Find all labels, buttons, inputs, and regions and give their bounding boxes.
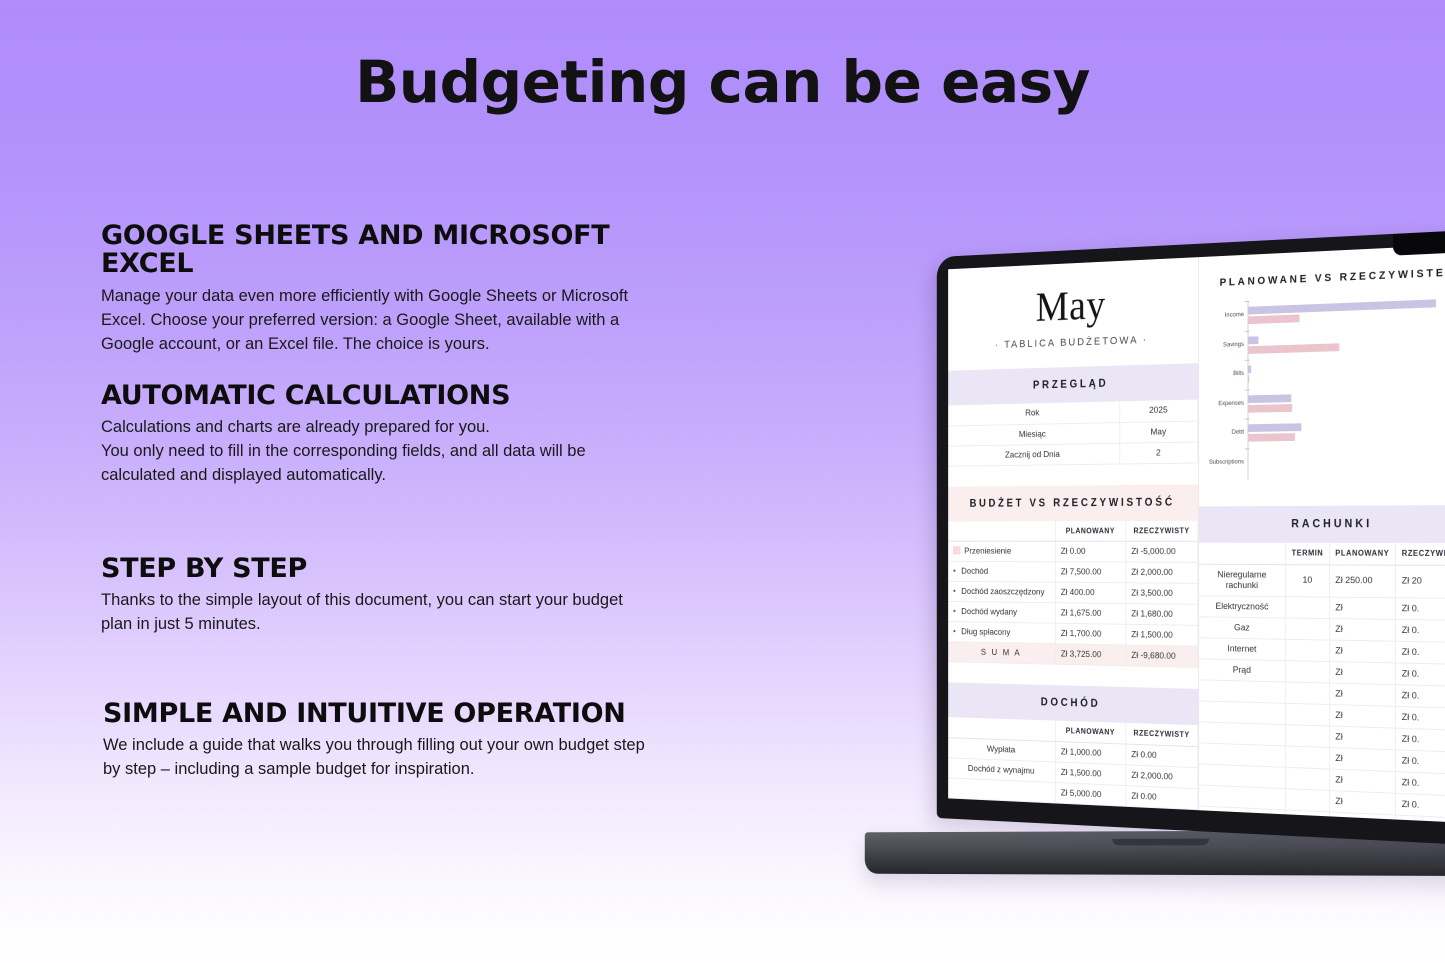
cell-term[interactable] — [1286, 745, 1330, 768]
cell-label: •Dochód zaoszczędzony — [948, 581, 1055, 602]
feature-heading: AUTOMATIC CALCULATIONS — [101, 382, 701, 410]
cell-actual[interactable]: Zł -5,000.00 — [1126, 541, 1198, 562]
table-header-row: TERMIN PLANOWANY RZECZYWISTY — [1199, 543, 1445, 565]
chart-bar-actual — [1248, 404, 1292, 413]
cell-value[interactable]: 2025 — [1119, 399, 1197, 422]
col-header-blank — [1199, 543, 1286, 564]
cell-label: Nieregularne rachunki — [1199, 564, 1286, 596]
cell-actual[interactable]: Zł 0. — [1395, 728, 1445, 752]
feature-body: Calculations and charts are already prep… — [101, 416, 701, 488]
cell-label: Gaz — [1199, 616, 1286, 639]
cell-planned[interactable]: Zł — [1329, 640, 1395, 663]
axis-tick — [1245, 418, 1250, 419]
page-title: Budgeting can be easy — [0, 48, 1445, 116]
chart-category-label: Bills — [1206, 371, 1244, 379]
cell-term[interactable]: 10 — [1286, 564, 1330, 596]
cell-planned[interactable]: Zł 1,700.00 — [1055, 623, 1125, 645]
chart-bar-planned — [1248, 424, 1302, 433]
chart-category-label: Expenses — [1206, 401, 1244, 408]
col-header-actual: RZECZYWISTY — [1126, 520, 1198, 541]
table-row[interactable]: Nieregularne rachunki 10 Zł 250.00 Zł 20 — [1199, 564, 1445, 598]
cell-actual[interactable]: Zł 0. — [1395, 597, 1445, 620]
chart-category-label: Savings — [1206, 342, 1244, 350]
laptop-lip — [1112, 839, 1209, 846]
chart-bar-planned — [1248, 336, 1259, 344]
cell-actual[interactable]: Zł 0. — [1395, 662, 1445, 686]
section-heading-overview: PRZEGLĄD — [948, 363, 1198, 405]
feature-heading: STEP BY STEP — [101, 555, 701, 583]
col-header-planned: PLANOWANY — [1055, 721, 1125, 744]
chart-panel: PLANOWANE VS RZECZYWISTE Income — [1199, 244, 1445, 489]
cell-label[interactable] — [1199, 721, 1286, 745]
chart-category-label: Income — [1206, 313, 1244, 321]
cell-label: •Dług spłacony — [948, 622, 1055, 644]
col-header-term: TERMIN — [1286, 543, 1330, 565]
cell-actual[interactable]: Zł 0. — [1395, 749, 1445, 774]
cell-label: Zacznij od Dnia — [948, 443, 1119, 466]
cell-planned[interactable]: Zł 1,000.00 — [1055, 741, 1125, 764]
chart-category-label: Subscriptions — [1206, 459, 1244, 466]
cell-label: Elektryczność — [1199, 595, 1286, 617]
cell-actual[interactable]: Zł 2,000.00 — [1126, 562, 1198, 583]
bullet-icon: • — [953, 607, 961, 617]
section-heading-bills: RACHUNKI — [1199, 505, 1445, 543]
cell-actual[interactable]: Zł 0. — [1395, 684, 1445, 708]
cell-term[interactable] — [1286, 681, 1330, 704]
cell-planned[interactable]: Zł — [1329, 726, 1395, 750]
cell-planned[interactable]: Zł — [1329, 597, 1395, 619]
axis-tick — [1245, 389, 1250, 390]
feature-block-simple-intuitive-operation: SIMPLE AND INTUITIVE OPERATION We includ… — [103, 700, 713, 782]
bullet-icon: • — [953, 566, 961, 576]
cell-planned[interactable]: Zł 250.00 — [1329, 564, 1395, 597]
chart-category-row: Expenses — [1248, 384, 1445, 419]
spreadsheet-left-column: May · TABLICA BUDŻETOWA · PRZEGLĄD Rok 2… — [948, 257, 1199, 810]
col-header-actual: RZECZYWISTY — [1126, 723, 1198, 746]
cell-planned[interactable]: Zł 1,675.00 — [1055, 603, 1125, 625]
cell-term[interactable] — [1286, 767, 1330, 790]
cell-actual[interactable]: Zł 1,680.00 — [1126, 604, 1198, 626]
chart-plot-area: Income Savings — [1206, 292, 1445, 479]
cell-planned[interactable]: Zł — [1329, 769, 1395, 793]
cell-actual[interactable]: Zł 0. — [1395, 815, 1445, 823]
cell-value[interactable]: May — [1119, 420, 1197, 442]
cell-actual[interactable]: Zł 0. — [1395, 641, 1445, 664]
cell-term[interactable] — [1286, 639, 1330, 661]
cell-term[interactable] — [1286, 788, 1330, 811]
table-row[interactable]: •Dochód zaoszczędzony Zł 400.00 Zł 3,500… — [948, 581, 1198, 604]
cell-term[interactable] — [1286, 724, 1330, 747]
color-swatch-icon — [953, 546, 960, 554]
cell-actual[interactable]: Zł 20 — [1395, 565, 1445, 598]
chart-category-row: Debt — [1248, 414, 1445, 448]
feature-body: Thanks to the simple layout of this docu… — [101, 589, 701, 637]
chart-bar-planned — [1248, 394, 1291, 403]
bullet-icon: • — [953, 586, 961, 596]
cell-label[interactable] — [1199, 700, 1286, 724]
cell-actual[interactable]: Zł 0.00 — [1126, 744, 1198, 768]
feature-heading: SIMPLE AND INTUITIVE OPERATION — [103, 700, 713, 728]
cell-total-planned: Zł 3,725.00 — [1055, 644, 1125, 666]
table-row[interactable]: Przeniesienie Zł 0.00 Zł -5,000.00 — [948, 541, 1198, 562]
section-heading-budget-vs-actual: BUDŻET VS RZECZYWISTOŚĆ — [948, 484, 1198, 521]
chart-bar-actual — [1248, 375, 1250, 383]
cell-actual[interactable]: Zł 0. — [1395, 706, 1445, 730]
axis-tick — [1245, 301, 1250, 302]
cell-label: •Dochód wydany — [948, 601, 1055, 623]
cell-total-actual: Zł -9,680.00 — [1126, 645, 1198, 667]
bullet-icon: • — [953, 627, 961, 637]
cell-planned[interactable]: Zł — [1329, 618, 1395, 641]
webcam-notch — [1393, 230, 1445, 256]
col-header-blank — [948, 521, 1055, 541]
cell-planned[interactable]: Zł 0.00 — [1055, 541, 1125, 562]
chart-bar-actual — [1248, 315, 1300, 325]
cell-term[interactable] — [1286, 660, 1330, 682]
table-row[interactable]: Zacznij od Dnia 2 — [948, 442, 1198, 466]
feature-block-step-by-step: STEP BY STEP Thanks to the simple layout… — [101, 555, 701, 637]
cell-term[interactable] — [1286, 703, 1330, 726]
cell-planned[interactable]: Zł — [1329, 704, 1395, 728]
cell-actual[interactable]: Zł 3,500.00 — [1126, 583, 1198, 605]
cell-term[interactable] — [1286, 617, 1330, 639]
cell-label: Internet — [1199, 637, 1286, 660]
table-header-row: PLANOWANY RZECZYWISTY — [948, 520, 1198, 541]
cell-planned[interactable]: Zł — [1329, 790, 1395, 815]
cell-label: Miesiąc — [948, 422, 1119, 446]
feature-block-google-sheets-excel: GOOGLE SHEETS AND MICROSOFT EXCEL Manage… — [101, 222, 701, 356]
cell-label: Prąd — [1199, 658, 1286, 681]
feature-body: We include a guide that walks you throug… — [103, 734, 713, 782]
cell-planned[interactable]: Zł 7,500.00 — [1055, 562, 1125, 583]
cell-total-label: S U M A — [948, 642, 1055, 665]
cell-planned[interactable]: Zł — [1329, 683, 1395, 706]
cell-value[interactable]: 2 — [1119, 442, 1197, 464]
chart-category-label: Debt — [1206, 430, 1244, 437]
chart-bar-actual — [1248, 433, 1296, 442]
cell-term[interactable] — [1286, 809, 1330, 823]
chart-category-row: Subscriptions — [1248, 445, 1445, 478]
col-header-actual: RZECZYWISTY — [1395, 543, 1445, 565]
month-title: May — [948, 257, 1198, 334]
chart-bar-actual — [1248, 343, 1340, 354]
feature-heading: GOOGLE SHEETS AND MICROSOFT EXCEL — [101, 222, 701, 279]
col-header-planned: PLANOWANY — [1055, 521, 1125, 542]
cell-label: •Dochód — [948, 561, 1055, 582]
table-row[interactable]: •Dochód Zł 7,500.00 Zł 2,000.00 — [948, 561, 1198, 583]
chart-category-row: Bills — [1248, 353, 1445, 389]
axis-tick — [1245, 330, 1250, 331]
col-header-planned: PLANOWANY — [1329, 543, 1395, 565]
laptop-mockup: May · TABLICA BUDŻETOWA · PRZEGLĄD Rok 2… — [770, 230, 1445, 890]
cell-label[interactable] — [1199, 805, 1286, 823]
feature-body: Manage your data even more efficiently w… — [101, 285, 701, 357]
feature-block-automatic-calculations: AUTOMATIC CALCULATIONS Calculations and … — [101, 382, 701, 488]
cell-label[interactable] — [1199, 679, 1286, 702]
budget-vs-actual-table: PLANOWANY RZECZYWISTY Przeniesienie Zł 0… — [948, 520, 1198, 668]
laptop-screen: May · TABLICA BUDŻETOWA · PRZEGLĄD Rok 2… — [948, 244, 1445, 823]
cell-label[interactable] — [948, 777, 1055, 802]
chart-bar-planned — [1248, 366, 1251, 374]
cell-planned[interactable]: Zł — [1329, 811, 1395, 823]
spreadsheet-right-column: PLANOWANE VS RZECZYWISTE Income — [1199, 244, 1445, 823]
cell-planned[interactable]: Zł 5,000.00 — [1055, 782, 1125, 806]
chart-title: PLANOWANE VS RZECZYWISTE — [1206, 266, 1445, 289]
budget-spreadsheet: May · TABLICA BUDŻETOWA · PRZEGLĄD Rok 2… — [948, 244, 1445, 823]
axis-tick — [1245, 360, 1250, 361]
cell-planned[interactable]: Zł — [1329, 661, 1395, 684]
cell-actual[interactable]: Zł 1,500.00 — [1126, 624, 1198, 646]
laptop-screen-bezel: May · TABLICA BUDŻETOWA · PRZEGLĄD Rok 2… — [937, 230, 1445, 845]
income-table: PLANOWANY RZECZYWISTY Wypłata Zł 1,000.0… — [948, 717, 1198, 810]
cell-planned[interactable]: Zł 400.00 — [1055, 582, 1125, 603]
overview-table: Rok 2025 Miesiąc May Zacznij od Dnia 2 — [948, 399, 1198, 466]
chart-bar-planned — [1248, 300, 1437, 315]
cell-actual[interactable]: Zł 0. — [1395, 619, 1445, 642]
cell-label: Przeniesienie — [948, 541, 1055, 562]
cell-planned[interactable]: Zł — [1329, 747, 1395, 771]
axis-tick — [1245, 448, 1250, 449]
cell-actual[interactable]: Zł 0.00 — [1126, 785, 1198, 809]
cell-term[interactable] — [1286, 596, 1330, 618]
bills-table: TERMIN PLANOWANY RZECZYWISTY Nieregularn… — [1199, 543, 1445, 823]
